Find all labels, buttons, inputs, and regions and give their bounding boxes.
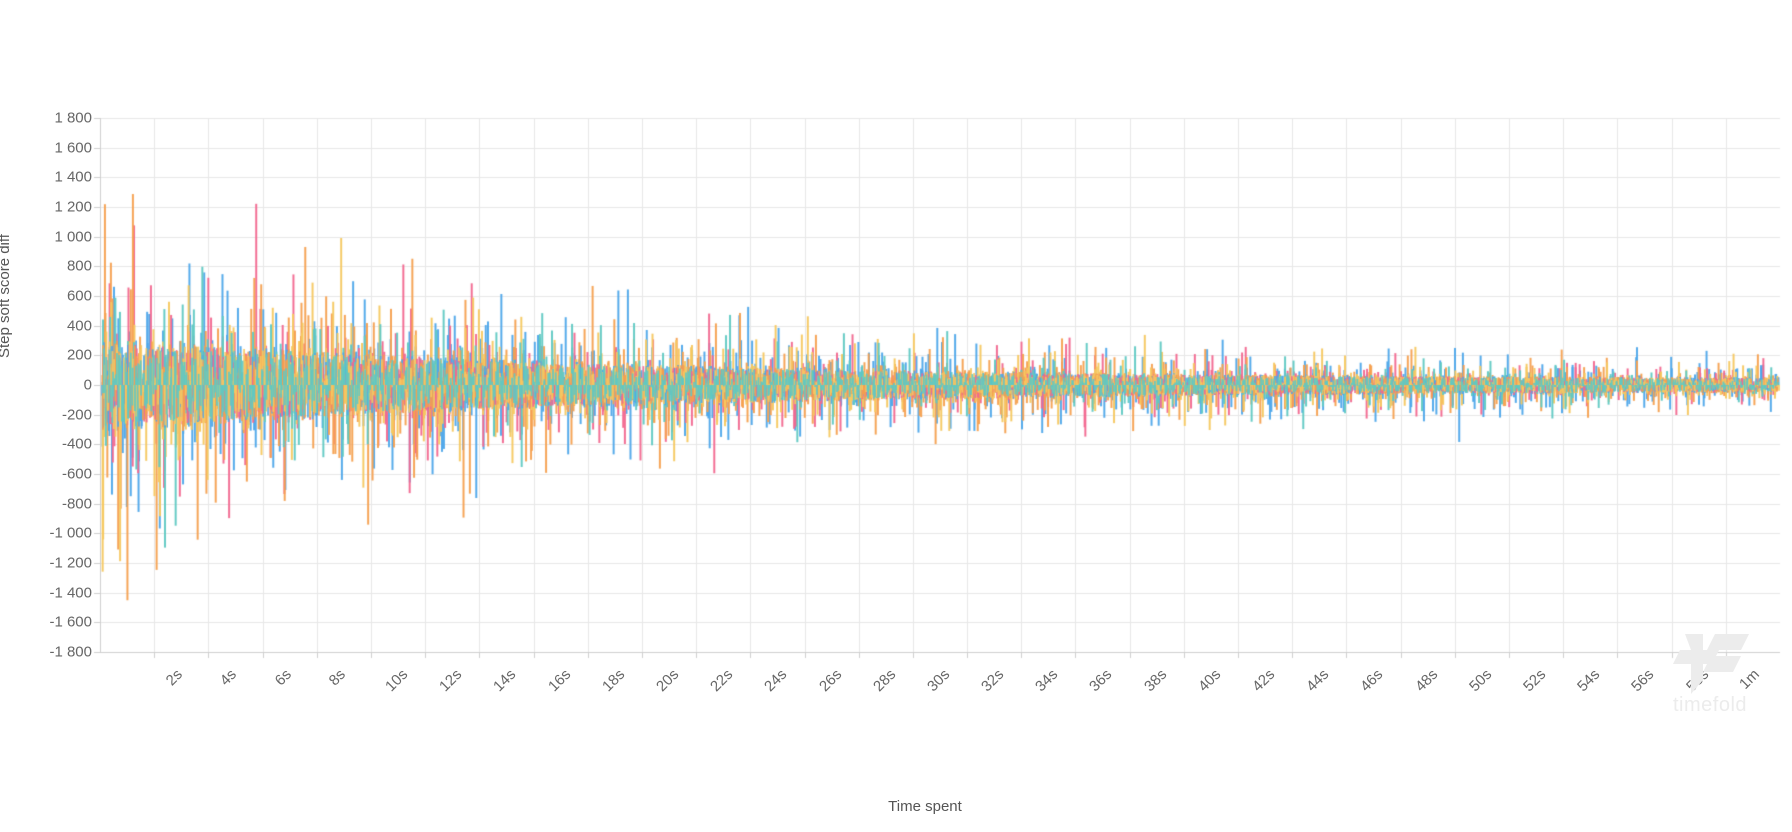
y-axis-title: Step soft score diff	[0, 158, 13, 358]
x-tick-label: 58s	[1683, 666, 1712, 695]
x-tick-label: 20s	[653, 666, 682, 695]
x-tick-label: 12s	[436, 666, 465, 695]
x-tick-label: 1m	[1736, 666, 1763, 693]
x-tick-label: 36s	[1087, 666, 1116, 695]
chart-root: belgium-n100-k10_Late Acceptance_0 picke…	[0, 0, 1792, 832]
x-tick-label: 44s	[1303, 666, 1332, 695]
x-axis-title: Time spent	[100, 798, 1750, 815]
x-tick-label: 22s	[707, 666, 736, 695]
x-tick-label: 6s	[271, 666, 294, 689]
x-tick-label: 40s	[1195, 666, 1224, 695]
x-tick-label: 48s	[1412, 666, 1441, 695]
x-tick-label: 10s	[382, 666, 411, 695]
x-tick-label: 54s	[1574, 666, 1603, 695]
x-axis-ticks: 2s4s6s8s10s12s14s16s18s20s22s24s26s28s30…	[0, 0, 1792, 832]
x-tick-label: 38s	[1141, 666, 1170, 695]
x-tick-label: 52s	[1520, 666, 1549, 695]
x-tick-label: 28s	[870, 666, 899, 695]
x-tick-label: 18s	[599, 666, 628, 695]
x-tick-label: 46s	[1358, 666, 1387, 695]
x-tick-label: 4s	[217, 666, 240, 689]
x-tick-label: 56s	[1628, 666, 1657, 695]
x-tick-label: 16s	[545, 666, 574, 695]
x-tick-label: 2s	[163, 666, 186, 689]
x-tick-label: 34s	[1032, 666, 1061, 695]
x-tick-label: 32s	[978, 666, 1007, 695]
x-tick-label: 30s	[924, 666, 953, 695]
x-tick-label: 26s	[816, 666, 845, 695]
x-tick-label: 50s	[1466, 666, 1495, 695]
x-tick-label: 14s	[490, 666, 519, 695]
x-tick-label: 24s	[761, 666, 790, 695]
x-tick-label: 42s	[1249, 666, 1278, 695]
x-tick-label: 8s	[325, 666, 348, 689]
